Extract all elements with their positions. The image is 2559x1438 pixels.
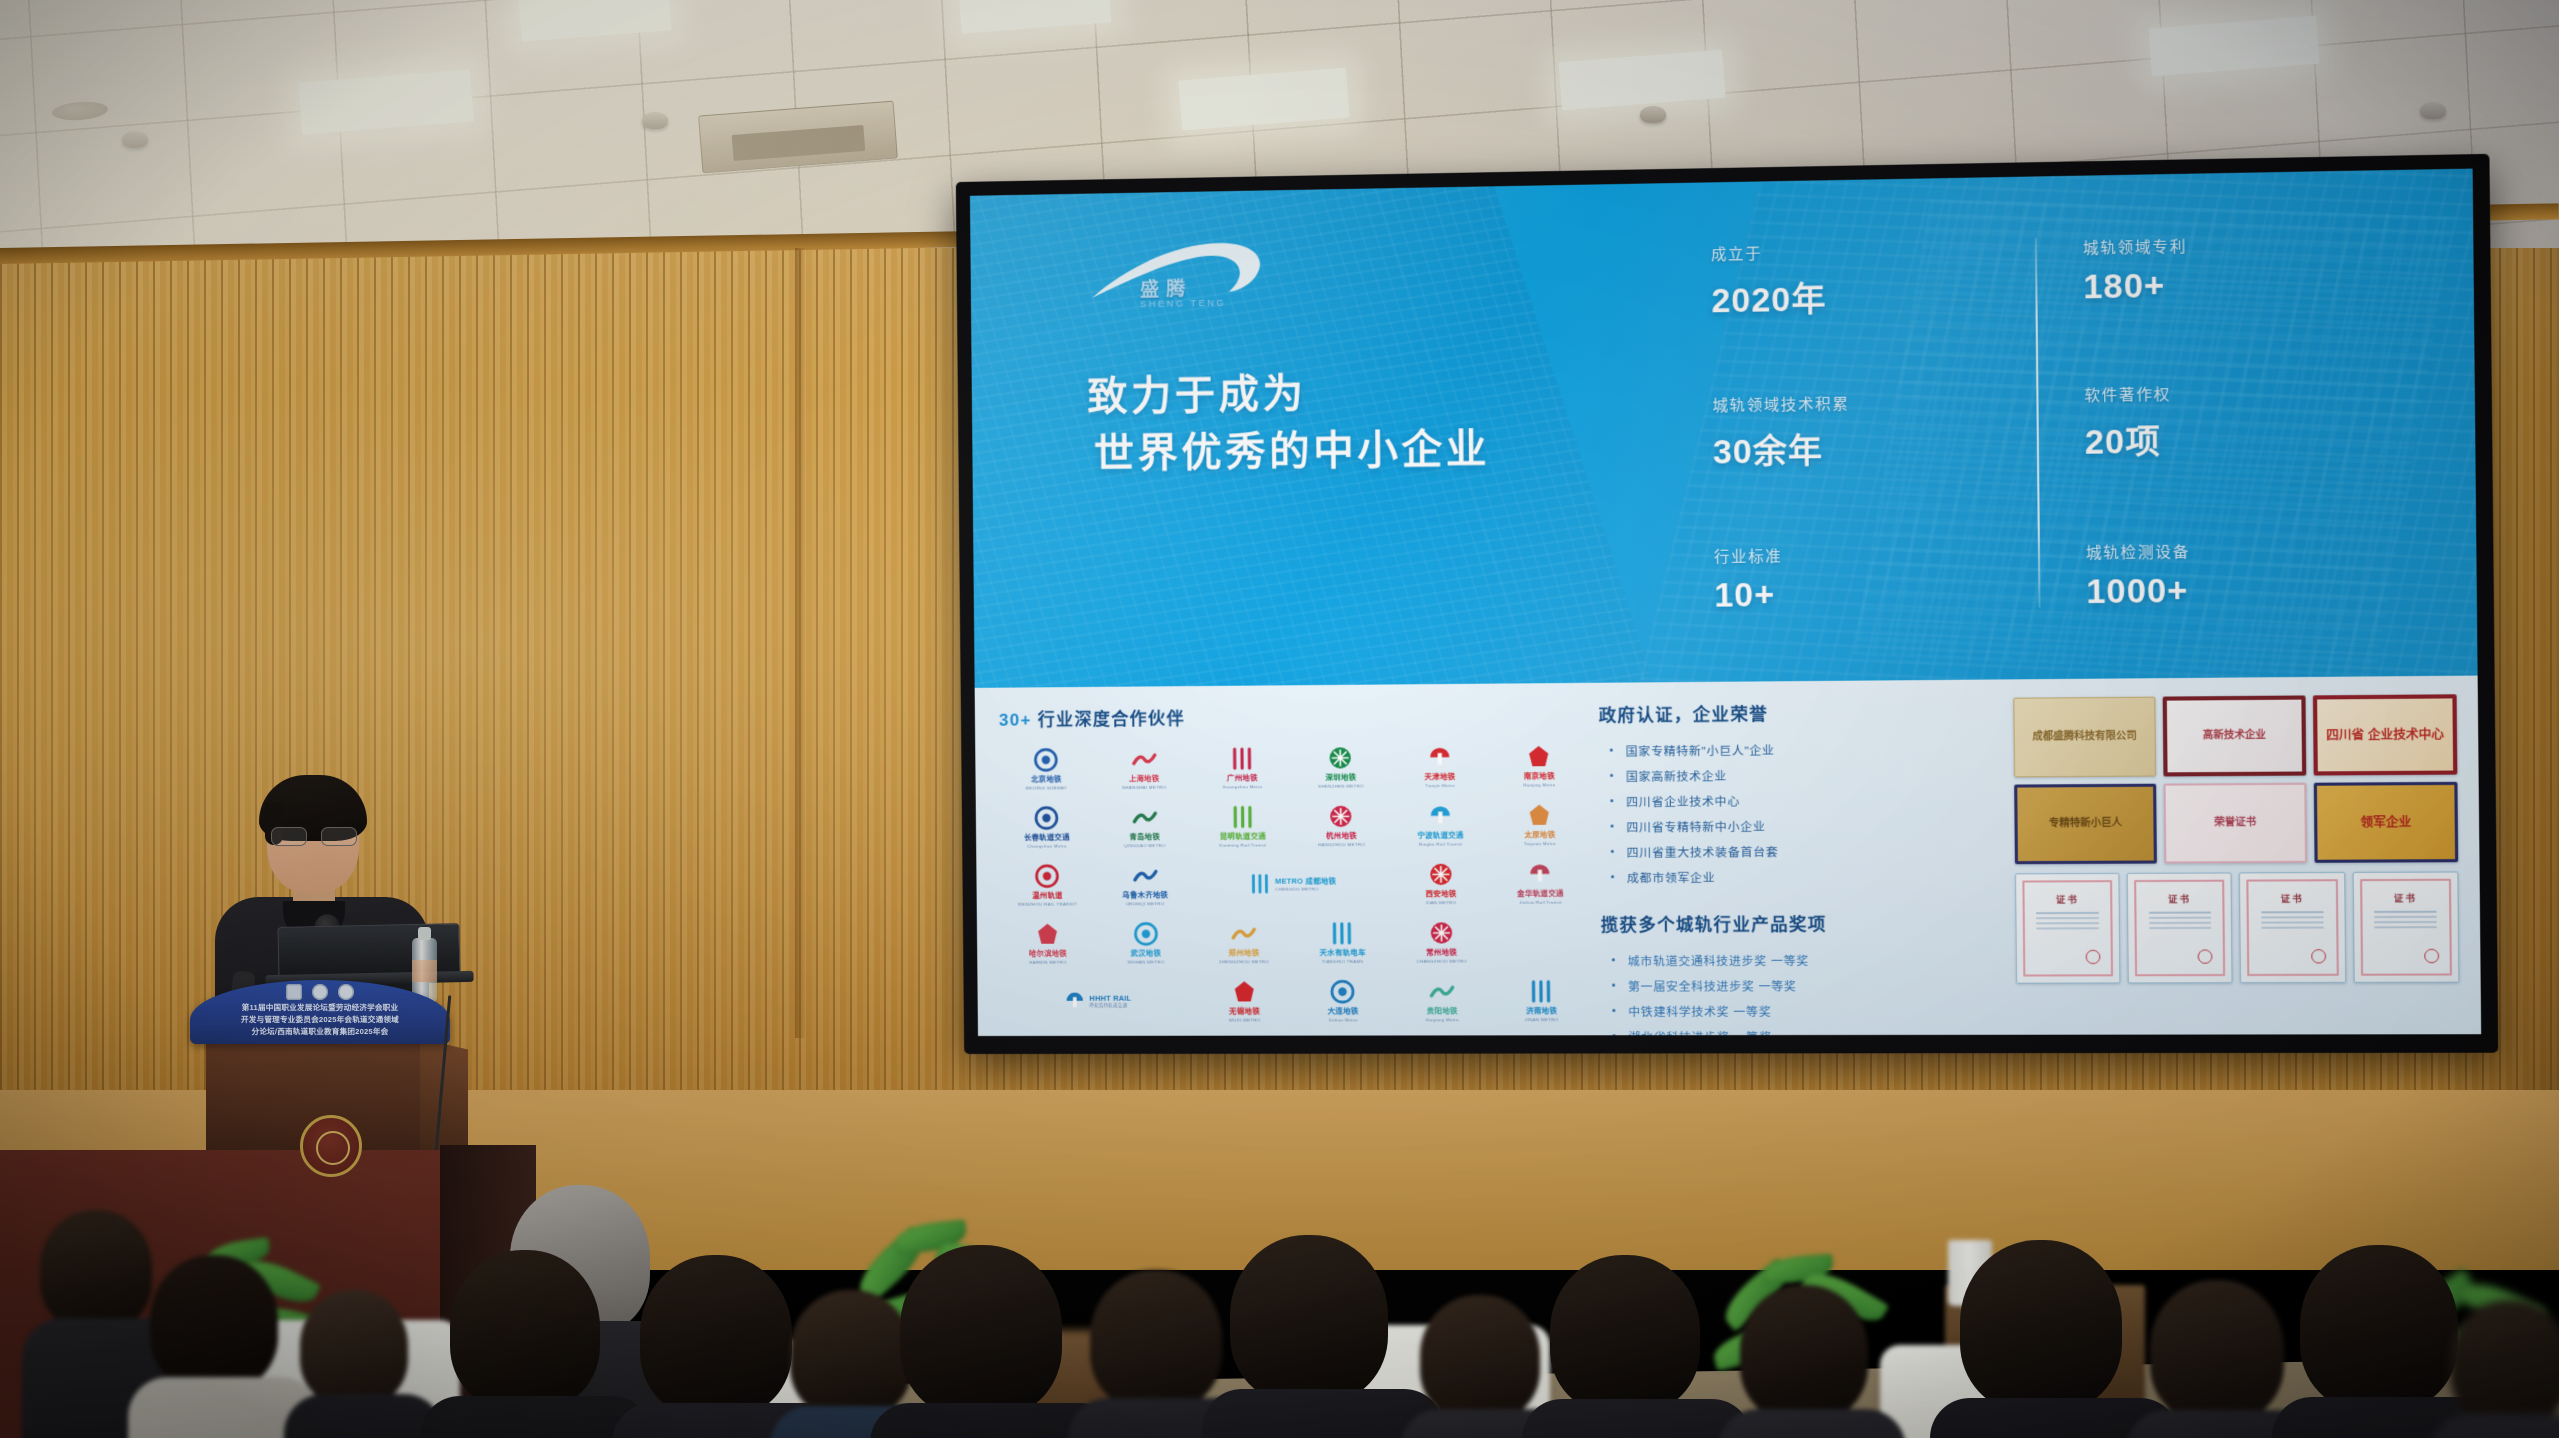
partner-logo-name: 天津地铁 [1424,771,1455,782]
partner-logo-subtitle: Nanjing Metro [1523,782,1555,787]
partner-logo-mark-icon [1232,979,1257,1004]
audience-member [1960,1240,2150,1438]
partner-logo-subtitle: HARBIN METRO [1029,959,1066,964]
led-display-screen[interactable]: 盛腾 SHENG TENG 致力于成为 世界优秀的中小企业 成立于 2020年 [956,154,2499,1054]
partner-logo-mark-icon [1528,978,1554,1003]
partner-logo-mark-icon [1230,804,1255,829]
partner-logo: 广州地铁Guangzhou Metro [1195,741,1290,794]
partner-logo-name: 上海地铁 [1129,772,1160,783]
partner-logo-subtitle: WUHAN METRO [1127,959,1164,964]
partner-logo-mark-icon [1229,746,1254,771]
partner-logo-mark-icon [1249,873,1271,895]
partner-logo: 大连地铁Dalian Metro [1295,974,1390,1027]
red-seal-icon [2198,950,2213,964]
stat-label: 城轨检测设备 [2086,538,2415,563]
partner-logo: MTR 港铁MTR [1494,1032,1590,1036]
partner-logo: 深圳地铁SHENZHEN METRO [1293,740,1388,793]
audience-member [1550,1255,1725,1438]
partners-title-text: 行业深度合作伙伴 [1038,710,1185,730]
partner-logo-subtitle: ZHENGZHOU METRO [1219,959,1269,964]
certificate-plaque: 成都盛腾科技有限公司 [2013,697,2156,778]
partner-logo-subtitle: SHANGHAI METRO [1122,784,1167,789]
partner-logo-mark-icon [1527,861,1553,886]
certification-item: 四川省企业技术中心 [1599,787,2001,815]
audience-member [150,1255,300,1438]
partner-logo-subtitle: Kunming Rail Transit [1219,842,1266,847]
audience-member [1740,1285,1890,1438]
partner-logo-mark-icon [1131,746,1156,771]
certification-item: 国家专精特新"小巨人"企业 [1599,736,2001,764]
certificate-text-lines [2149,912,2211,914]
partner-logo-subtitle: CHENGDU METRO [1275,887,1336,892]
award-item: 城市轨道交通科技进步奖 一等奖 [1601,947,2003,973]
partner-logo-name: 南京地铁 [1524,770,1555,781]
partner-logo-subtitle: Ningbo Rail Transit [1419,841,1463,846]
certification-item: 四川省专精特新中小企业 [1600,812,2002,840]
partner-logo-subtitle: QINGDAO METRO [1124,843,1166,848]
headline-line-2: 世界优秀的中小企业 [1088,420,1491,482]
partner-logo-name: 深圳地铁 [1325,771,1356,782]
podium-banner-text: 第11届中国职业发展论坛暨劳动经济学会职业 开发与管理专业委员会2025年会轨道… [200,1002,440,1037]
logo-english-name: SHENG TENG [1140,298,1226,309]
audience-member [900,1245,1090,1438]
partner-logo: 宁波轨道交通Ningbo Rail Transit [1393,798,1489,851]
partner-logo-name: 西安地铁 [1425,888,1456,899]
partner-logo-mark-icon [1526,744,1552,769]
partner-logo-mark-icon [1035,863,1060,888]
partner-logo-name: HHHT RAIL [1089,993,1131,1002]
certificate-document-grid: 证书证书证书证书 [2015,872,2460,984]
certifications-list: 国家专精特新"小巨人"企业国家高新技术企业四川省企业技术中心四川省专精特新中小企… [1599,736,2003,891]
stat-label: 城轨领域专利 [2083,232,2412,259]
stat-label: 行业标准 [1714,542,2038,567]
partner-logo: 杭州地铁HANGZHOU METRO [1294,799,1389,852]
partner-logo: 绍兴轨道交通Shaoxing Rail Transit [1002,1033,1096,1036]
certifications-title: 政府认证，企业荣誉 [1599,698,2001,726]
partner-logo-name: 武汉地铁 [1130,947,1161,958]
partner-logo-name: 宁波轨道交通 [1417,829,1463,840]
partner-logo-grid: 北京地铁BEIJING SUBWAY上海地铁SHANGHAI METRO广州地铁… [999,739,1590,1036]
partner-logo-subtitle: Changchun Metro [1027,843,1067,848]
partner-logo-mark-icon [1328,803,1354,828]
certificate-text-lines [2261,911,2323,913]
partner-logo-subtitle: 呼和浩特轨道交通 [1089,1002,1131,1008]
partner-logo: 西安地铁XIAN METRO [1393,857,1489,910]
partner-logo-mark-icon [1429,979,1455,1004]
partner-logo-name: 无锡地铁 [1229,1005,1260,1016]
partner-logo: 北京地铁BEIJING SUBWAY [999,742,1093,795]
partner-logo: 济南地铁JINAN METRO [1493,974,1589,1027]
partner-logo-name: 昆明轨道交通 [1220,830,1266,841]
conference-hall-photo: 盛腾 SHENG TENG 致力于成为 世界优秀的中小企业 成立于 2020年 [0,0,2559,1438]
emblem-badge-icon [286,984,302,1000]
partner-logo-name: 天水有轨电车 [1319,947,1365,958]
partner-logo-name: 乌鲁木齐地铁 [1122,889,1168,900]
slide-headline: 致力于成为 世界优秀的中小企业 [1087,363,1490,483]
stat-item: 成立于 2020年 [1711,238,2036,323]
partner-logo: METRO 成都地铁CHENGDU METRO [1196,857,1390,910]
awards-list: 城市轨道交通科技进步奖 一等奖第一届安全科技进步奖 一等奖中铁建科学技术奖 一等… [1601,947,2004,1036]
partner-logo-mark-icon [1231,921,1256,946]
partner-logo-mark-icon [1033,747,1058,772]
partner-logo: 贵阳地铁Guiyang Metro [1394,974,1490,1027]
partner-logo-name: 太原地铁 [1524,829,1555,840]
certificate-document: 证书 [2015,873,2121,984]
partner-logo-mark-icon [1330,979,1356,1004]
certificate-document: 证书 [2239,872,2346,983]
glasses-icon [271,827,357,844]
partner-logo: 绍兴地铁Shaoxing Metro [1198,1033,1293,1036]
partner-logo-subtitle: SHENZHEN METRO [1318,783,1364,788]
partner-logo-mark-icon [1132,805,1157,830]
certificate-plaque: 高新技术企业 [2163,696,2307,777]
partner-logo-subtitle: Jinhua Rail Transit [1519,899,1562,904]
award-item: 第一届安全科技进步奖 一等奖 [1601,973,2003,999]
slide-hero-section: 盛腾 SHENG TENG 致力于成为 世界优秀的中小企业 成立于 2020年 [970,169,2478,689]
partner-logo: 哈尔滨地铁HARBIN METRO [1001,917,1095,969]
certificate-document: 证书 [2352,872,2459,983]
partner-logo: 金华轨道交通Jinhua Rail Transit [1492,856,1588,909]
audience-member [300,1290,430,1438]
partner-logo-subtitle: Tianjin Metro [1425,783,1455,788]
stat-label: 成立于 [1711,238,2035,265]
headline-line-1: 致力于成为 [1087,363,1490,426]
red-seal-icon [2311,949,2326,963]
partner-logo: 温州轨道WENZHOU RAIL TRANSIT [1000,859,1094,911]
certification-item: 成都市领军企业 [1600,863,2002,890]
certificate-title: 证书 [2056,893,2079,906]
partner-logo-subtitle: Dalian Metro [1329,1017,1358,1022]
partner-logo-mark-icon [1132,863,1157,888]
certificate-title: 证书 [2281,892,2304,905]
partner-logo-mark-icon [1429,920,1455,945]
partner-logo-name: 常州地铁 [1426,946,1457,957]
partner-logo: 昆明轨道交通Kunming Rail Transit [1195,799,1290,852]
certificate-plaque-grid: 成都盛腾科技有限公司高新技术企业四川省 企业技术中心专精特新小巨人荣誉证书领军企… [2013,695,2458,865]
partner-logo-name: 哈尔滨地铁 [1029,947,1067,958]
stat-value: 180+ [2083,262,2412,306]
podium-emblem-row [268,983,372,1001]
partner-logo: 天水有轨电车TIANSHUI TRAMS [1295,916,1390,969]
partner-logo: 上海地铁SHANGHAI METRO [1097,742,1191,795]
slide-detail-section: 30+ 行业深度合作伙伴 北京地铁BEIJING SUBWAY上海地铁SHANG… [975,676,2482,1036]
partner-logo: NNRT南宁轨道交通 [1100,1033,1194,1036]
presentation-slide: 盛腾 SHENG TENG 致力于成为 世界优秀的中小企业 成立于 2020年 [970,169,2481,1036]
stat-item: 城轨领域专利 180+ [2083,232,2412,307]
partner-logo: 常州地铁CHANGZHOU METRO [1394,915,1490,968]
company-logo: 盛腾 SHENG TENG [1087,232,1279,328]
partner-logo-subtitle: WUXI METRO [1229,1017,1261,1022]
podium-line-3: 分论坛/西南轨道职业教育集团2025年会 [200,1026,440,1038]
certificate-plaque: 荣誉证书 [2163,783,2307,864]
podium-line-2: 开发与管理专业委员会2025年会轨道交通领域 [200,1014,440,1026]
partner-logo-name: 广州地铁 [1227,772,1258,783]
partner-logo-name: 温州轨道 [1032,889,1063,900]
partner-logo-name: 长春轨道交通 [1024,831,1070,842]
certification-item: 国家高新技术企业 [1599,761,2001,789]
partners-column: 30+ 行业深度合作伙伴 北京地铁BEIJING SUBWAY上海地铁SHANG… [999,701,1590,1024]
partner-logo-name: 金华轨道交通 [1517,887,1564,898]
partner-logo-subtitle: URUMQI METRO [1126,901,1165,906]
certificate-document: 证书 [2127,873,2233,984]
partner-logo: 青岛地铁QINGDAO METRO [1097,800,1191,853]
partner-logo: HHHT RAIL呼和浩特轨道交通 [1001,975,1193,1028]
stat-item: 行业标准 10+ [1714,542,2039,615]
certificate-plaque: 领军企业 [2314,782,2459,863]
partner-logo-mark-icon [1034,805,1059,830]
red-seal-icon [2086,950,2101,964]
certificate-text-lines [2037,912,2099,914]
partner-logo-name: 贵阳地铁 [1427,1005,1458,1016]
podium-line-1: 第11届中国职业发展论坛暨劳动经济学会职业 [200,1002,440,1014]
stat-value: 10+ [1714,573,2038,615]
partner-logo-subtitle: XIAN METRO [1426,900,1457,905]
certification-item: 四川省重大技术装备首台套 [1600,838,2002,865]
partner-logo-mark-icon [1427,803,1453,828]
partner-logo: 乌鲁木齐地铁URUMQI METRO [1098,858,1192,911]
partner-logo-mark-icon [1330,920,1356,945]
partners-count: 30+ [999,711,1032,730]
awards-title: 揽获多个城轨行业产品奖项 [1601,909,2003,936]
partner-logo-name: 大连地铁 [1328,1005,1359,1016]
partner-logo-subtitle: WENZHOU RAIL TRANSIT [1018,901,1078,906]
partner-logo-name: 青岛地铁 [1129,831,1160,842]
stat-value: 2020年 [1711,269,2035,323]
partner-logo-mark-icon [1527,802,1553,827]
partner-logo: 天津地铁Tianjin Metro [1392,740,1488,793]
wall-panel-seam [795,248,805,1038]
partner-logo-name: 杭州地铁 [1326,830,1357,841]
partner-logo-name: 济南地铁 [1526,1005,1557,1016]
stat-label: 软件著作权 [2084,380,2413,406]
partner-logo-subtitle: Guiyang Metro [1426,1017,1459,1022]
certificate-images-column: 成都盛腾科技有限公司高新技术企业四川省 企业技术中心专精特新小巨人荣誉证书领军企… [2013,695,2460,1023]
partners-title: 30+ 行业深度合作伙伴 [999,701,1587,731]
stats-block: 成立于 2020年 城轨领域技术积累 30余年 行业标准 10+ [1666,225,2416,637]
certificate-plaque: 四川省 企业技术中心 [2313,695,2458,776]
partner-logo-subtitle: BEIJING SUBWAY [1026,785,1067,790]
partner-logo-mark-icon [1035,921,1060,946]
partner-logo: 河南城市发展集团股份有限公司HENAN VALLEY GROUP CORPORA… [1296,1033,1490,1036]
partner-logo-name: 北京地铁 [1031,773,1062,784]
emblem-circle-icon [338,984,354,1000]
audience-member [1230,1235,1415,1438]
partner-logo-mark-icon [1063,990,1085,1012]
stats-column-right: 城轨领域专利 180+ 软件著作权 20项 城轨检测设备 1000+ [2037,225,2416,634]
partner-logo-subtitle: Taiyuan Metro [1524,841,1556,846]
emblem-circle-icon [312,984,328,1000]
partner-logo-mark-icon [1428,861,1454,886]
partner-logo: 武汉地铁WUHAN METRO [1098,916,1192,968]
audience-member [450,1250,625,1438]
partner-logo-name: METRO 成都地铁 [1275,876,1336,887]
partner-logo-subtitle: Guangzhou Metro [1222,784,1262,789]
partner-logo: 郑州地铁ZHENGZHOU METRO [1197,916,1292,969]
certificate-text-lines [2374,911,2437,913]
partner-logo-subtitle: HANGZHOU METRO [1318,842,1365,847]
award-item: 中铁建科学技术奖 一等奖 [1602,998,2004,1024]
partner-logo: 南京地铁Nanjing Metro [1491,739,1587,792]
institution-crest-icon [300,1115,362,1177]
red-seal-icon [2424,949,2439,963]
stats-column-left: 成立于 2020年 城轨领域技术积累 30余年 行业标准 10+ [1666,232,2039,638]
stat-label: 城轨领域技术积累 [1712,390,2036,416]
certificate-plaque: 专精特新小巨人 [2014,784,2157,865]
partner-logo-mark-icon [1328,745,1354,770]
stat-item: 城轨检测设备 1000+ [2086,538,2415,611]
stat-value: 1000+ [2086,569,2415,611]
partner-logo: 太原地铁Taiyuan Metro [1492,798,1588,851]
podium-banner: 第11届中国职业发展论坛暨劳动经济学会职业 开发与管理专业委员会2025年会轨道… [190,980,450,1044]
stat-value: 30余年 [1713,421,2037,474]
award-item: 湖北省科技进步奖 一等奖 [1602,1024,2004,1036]
partner-logo-subtitle: CHANGZHOU METRO [1416,958,1467,963]
stat-item: 软件著作权 20项 [2084,380,2413,464]
partner-logo: 长春轨道交通Changchun Metro [1000,800,1094,853]
partner-logo-mark-icon [1427,744,1453,769]
certificate-title: 证书 [2168,892,2191,905]
partner-logo-subtitle: JINAN METRO [1525,1017,1559,1022]
screen-bezel: 盛腾 SHENG TENG 致力于成为 世界优秀的中小企业 成立于 2020年 [956,154,2499,1054]
certifications-column: 政府认证，企业荣誉 国家专精特新"小巨人"企业国家高新技术企业四川省企业技术中心… [1599,698,2004,1023]
partner-logo-name: 郑州地铁 [1229,947,1260,958]
partner-logo: 无锡地铁WUXI METRO [1197,974,1292,1026]
certificate-title: 证书 [2394,891,2417,904]
stat-value: 20项 [2084,411,2413,464]
partner-logo-mark-icon [1133,921,1158,946]
audience-member [2450,1300,2559,1438]
partner-logo-subtitle: TIANSHUI TRAMS [1322,959,1364,964]
stat-item: 城轨领域技术积累 30余年 [1712,390,2037,474]
